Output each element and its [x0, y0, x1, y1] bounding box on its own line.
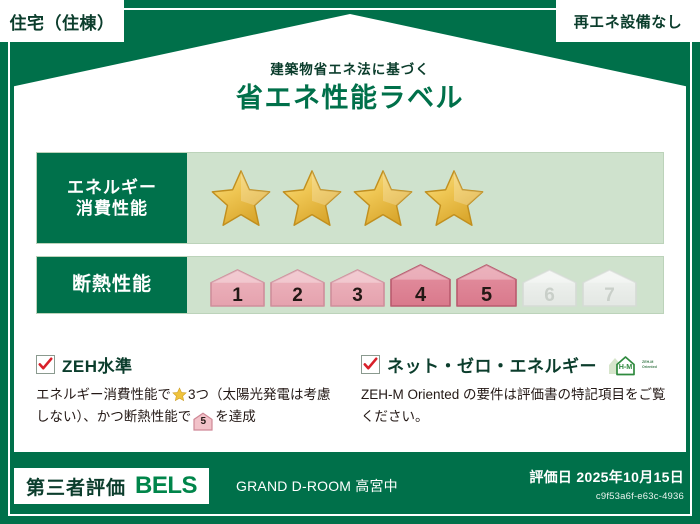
nzeb-heading: ネット・ゼロ・エネルギー H-M ZEH-M Oriented	[361, 352, 668, 377]
ratings-container: エネルギー 消費性能 断熱性能 1234567	[36, 152, 664, 326]
zeh-desc-pre: エネルギー消費性能で	[36, 387, 171, 402]
insulation-grade-badge: 2	[269, 268, 326, 308]
inline-grade-badge: 5	[193, 412, 213, 428]
evaluation-date: 評価日 2025年10月15日	[529, 467, 684, 487]
bels-logo-text: BELS	[135, 472, 197, 500]
insulation-grade-badge: 5	[455, 263, 518, 308]
page-title: 省エネ性能ラベル	[0, 82, 700, 116]
svg-text:H-M: H-M	[619, 362, 633, 371]
badge-building-type: 住宅（住棟）	[0, 0, 124, 42]
grade-value: 3	[352, 286, 363, 305]
evaluation-id: c9f53a6f-e63c-4936	[529, 491, 684, 502]
nzeb-title: ネット・ゼロ・エネルギー	[387, 352, 597, 377]
star-icon	[422, 168, 486, 229]
bels-certification-box: 第三者評価 BELS	[14, 468, 209, 504]
third-party-eval-label: 第三者評価	[26, 473, 126, 500]
energy-performance-row: エネルギー 消費性能	[36, 152, 664, 244]
nzeb-description: ZEH-M Oriented の要件は評価書の特記項目をご覧ください。	[361, 384, 668, 428]
energy-performance-label-box: エネルギー 消費性能	[37, 153, 187, 243]
evaluation-meta: 評価日 2025年10月15日 c9f53a6f-e63c-4936	[529, 467, 684, 502]
zeh-description: エネルギー消費性能で3つ（太陽光発電は考慮しない）、かつ断熱性能で5を達成	[36, 384, 343, 428]
energy-label-line1: エネルギー	[67, 177, 157, 198]
grade-value: 2	[292, 286, 303, 305]
zeh-m-oriented-logo: H-M ZEH-M Oriented	[606, 353, 657, 377]
badge-renewable-equipment: 再エネ設備なし	[556, 0, 700, 42]
zeh-m-caption: ZEH-M Oriented	[642, 360, 657, 368]
nzeb-column: ネット・ゼロ・エネルギー H-M ZEH-M Oriented ZEH-M Or…	[361, 352, 668, 428]
zeh-m-caption-line2: Oriented	[642, 365, 657, 369]
energy-performance-label: 住宅（住棟） 再エネ設備なし 建築物省エネ法に基づく 省エネ性能ラベル エネルギ…	[0, 0, 700, 524]
insulation-grades-area: 1234567	[187, 257, 663, 313]
insulation-performance-row: 断熱性能 1234567	[36, 256, 664, 314]
star-icon	[351, 168, 415, 229]
label-footer: 第三者評価 BELS GRAND D-ROOM 高宮中 評価日 2025年10月…	[0, 462, 700, 524]
insulation-grade-badge: 3	[329, 268, 386, 308]
info-columns: ZEH水準 エネルギー消費性能で3つ（太陽光発電は考慮しない）、かつ断熱性能で5…	[36, 352, 668, 428]
grade-value: 7	[604, 286, 615, 305]
insulation-grade-badge: 1	[209, 268, 266, 308]
zeh-title: ZEH水準	[62, 352, 133, 377]
project-name: GRAND D-ROOM 高宮中	[236, 476, 398, 496]
grade-value: 6	[544, 286, 555, 305]
zeh-column: ZEH水準 エネルギー消費性能で3つ（太陽光発電は考慮しない）、かつ断熱性能で5…	[36, 352, 343, 428]
insulation-label-box: 断熱性能	[37, 257, 187, 313]
energy-label-line2: 消費性能	[76, 198, 148, 219]
zeh-heading: ZEH水準	[36, 352, 343, 377]
insulation-grade-badge: 4	[389, 263, 452, 308]
energy-stars-area	[187, 153, 663, 243]
grade-value: 1	[232, 286, 243, 305]
insulation-grade-scale: 1234567	[209, 263, 638, 308]
star-icon	[209, 168, 273, 229]
grade-value: 4	[415, 285, 426, 305]
label-subtitle: 建築物省エネ法に基づく	[0, 62, 700, 78]
label-title-block: 建築物省エネ法に基づく 省エネ性能ラベル	[0, 62, 700, 116]
zeh-checkbox	[36, 355, 55, 374]
inline-star-icon	[172, 387, 187, 402]
zeh-desc-post: を達成	[215, 409, 256, 424]
inline-grade-value: 5	[193, 412, 213, 431]
star-rating	[209, 168, 486, 229]
nzeb-checkbox	[361, 355, 380, 374]
insulation-grade-badge: 6	[521, 268, 578, 308]
grade-value: 5	[481, 285, 492, 305]
zeh-m-house-icon: H-M	[606, 353, 640, 377]
insulation-grade-badge: 7	[581, 268, 638, 308]
star-icon	[280, 168, 344, 229]
